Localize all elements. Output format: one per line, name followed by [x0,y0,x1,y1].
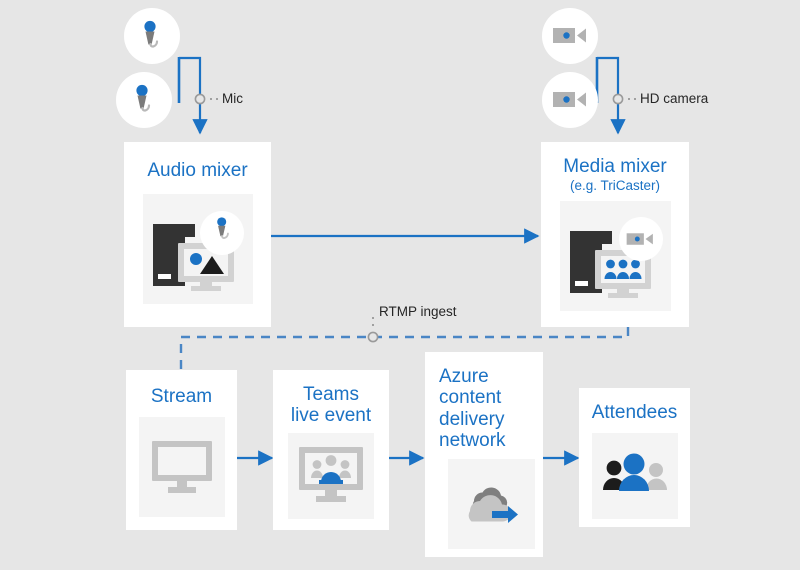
node-stream-icon-frame [139,417,225,517]
node-attendees[interactable]: Attendees [579,388,690,527]
node-teams-live-event-icon-frame [288,433,374,519]
node-media-mixer-subtitle: (e.g. TriCaster) [570,178,660,193]
connector-label-mic: Mic [222,91,243,106]
source-camera-bottom[interactable] [542,72,598,128]
node-audio-mixer-title: Audio mixer [147,160,247,181]
microphone-icon [135,19,169,53]
node-attendees-title: Attendees [592,402,678,423]
desktop-video-camera-icon [565,213,665,299]
desktop-microphone-icon [148,206,248,292]
connector-label-hd-camera: HD camera [640,91,708,106]
edge-mics-to-audio-mixer [179,57,218,133]
cloud-arrow-icon [458,479,524,529]
node-media-mixer[interactable]: Media mixer (e.g. TriCaster) [541,142,689,327]
node-audio-mixer-icon-frame [143,194,253,304]
source-mic-bottom[interactable] [116,72,172,128]
node-teams-live-event-title: Teams live event [291,384,371,427]
edge-cameras-to-media-mixer [597,57,636,133]
node-azure-cdn-icon-frame [448,459,535,549]
node-stream[interactable]: Stream [126,370,237,530]
monitor-people-icon [296,445,366,507]
node-azure-cdn[interactable]: Azure content delivery network [425,352,543,557]
monitor-icon [149,438,215,496]
video-camera-icon [551,23,589,49]
node-azure-cdn-title: Azure content delivery network [439,366,506,451]
source-camera-top[interactable] [542,8,598,64]
people-group-icon [599,451,671,501]
node-media-mixer-icon-frame [560,201,671,311]
node-stream-title: Stream [151,386,212,407]
node-audio-mixer[interactable]: Audio mixer [124,142,271,327]
node-attendees-icon-frame [592,433,678,519]
node-teams-live-event[interactable]: Teams live event [273,370,389,530]
microphone-icon [127,83,161,117]
video-camera-icon [551,87,589,113]
source-mic-top[interactable] [124,8,180,64]
connector-label-rtmp-ingest: RTMP ingest [379,304,457,319]
diagram-canvas: Mic HD camera RTMP ingest Audio [0,0,800,570]
node-media-mixer-title: Media mixer [563,156,666,177]
